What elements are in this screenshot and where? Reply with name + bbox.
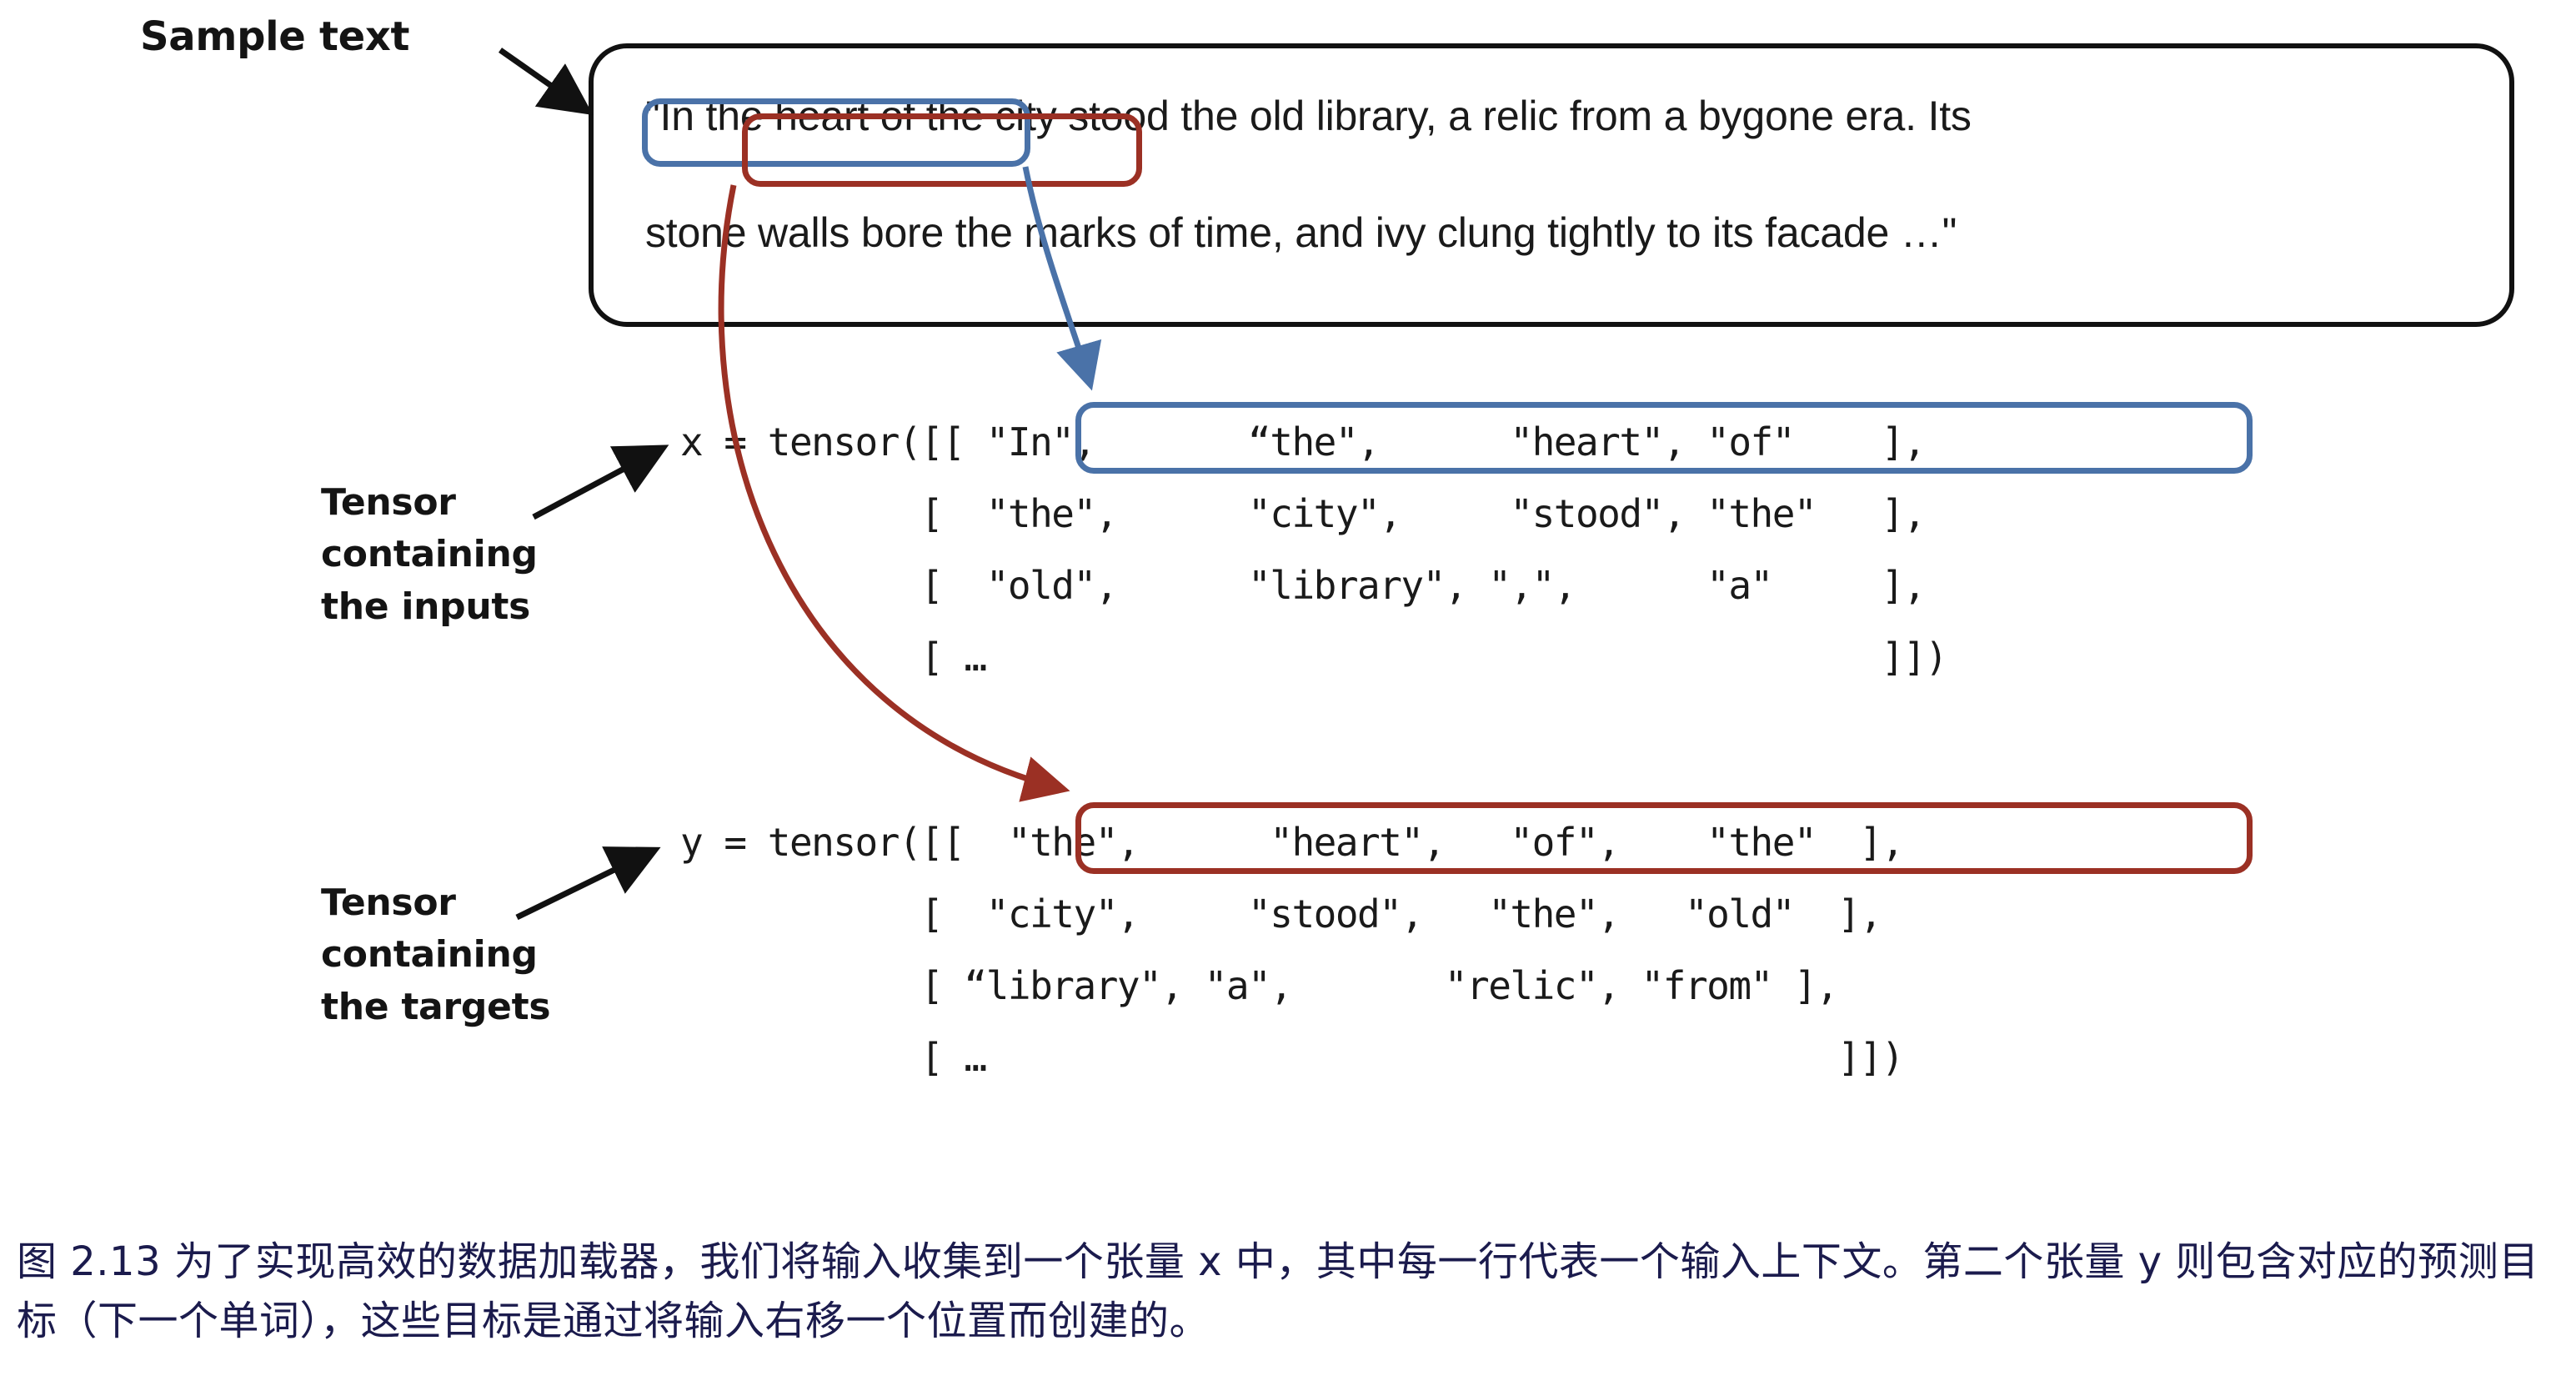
tensor-y-first-row-highlight (1075, 802, 2253, 874)
sample-text-label: Sample text (140, 8, 409, 65)
tensor-x-first-row-highlight (1075, 402, 2253, 474)
sample-text-line-2: stone walls bore the marks of time, and … (645, 208, 1957, 257)
target-span-highlight (742, 113, 1142, 187)
tensor-inputs-arrow (534, 450, 659, 517)
figure-caption: 图 2.13 为了实现高效的数据加载器，我们将输入收集到一个张量 x 中，其中每… (17, 1233, 2559, 1351)
tensor-targets-label: Tensor containing the targets (321, 877, 550, 1033)
tensor-inputs-label: Tensor containing the inputs (321, 477, 538, 633)
sample-text-arrow (500, 50, 584, 108)
